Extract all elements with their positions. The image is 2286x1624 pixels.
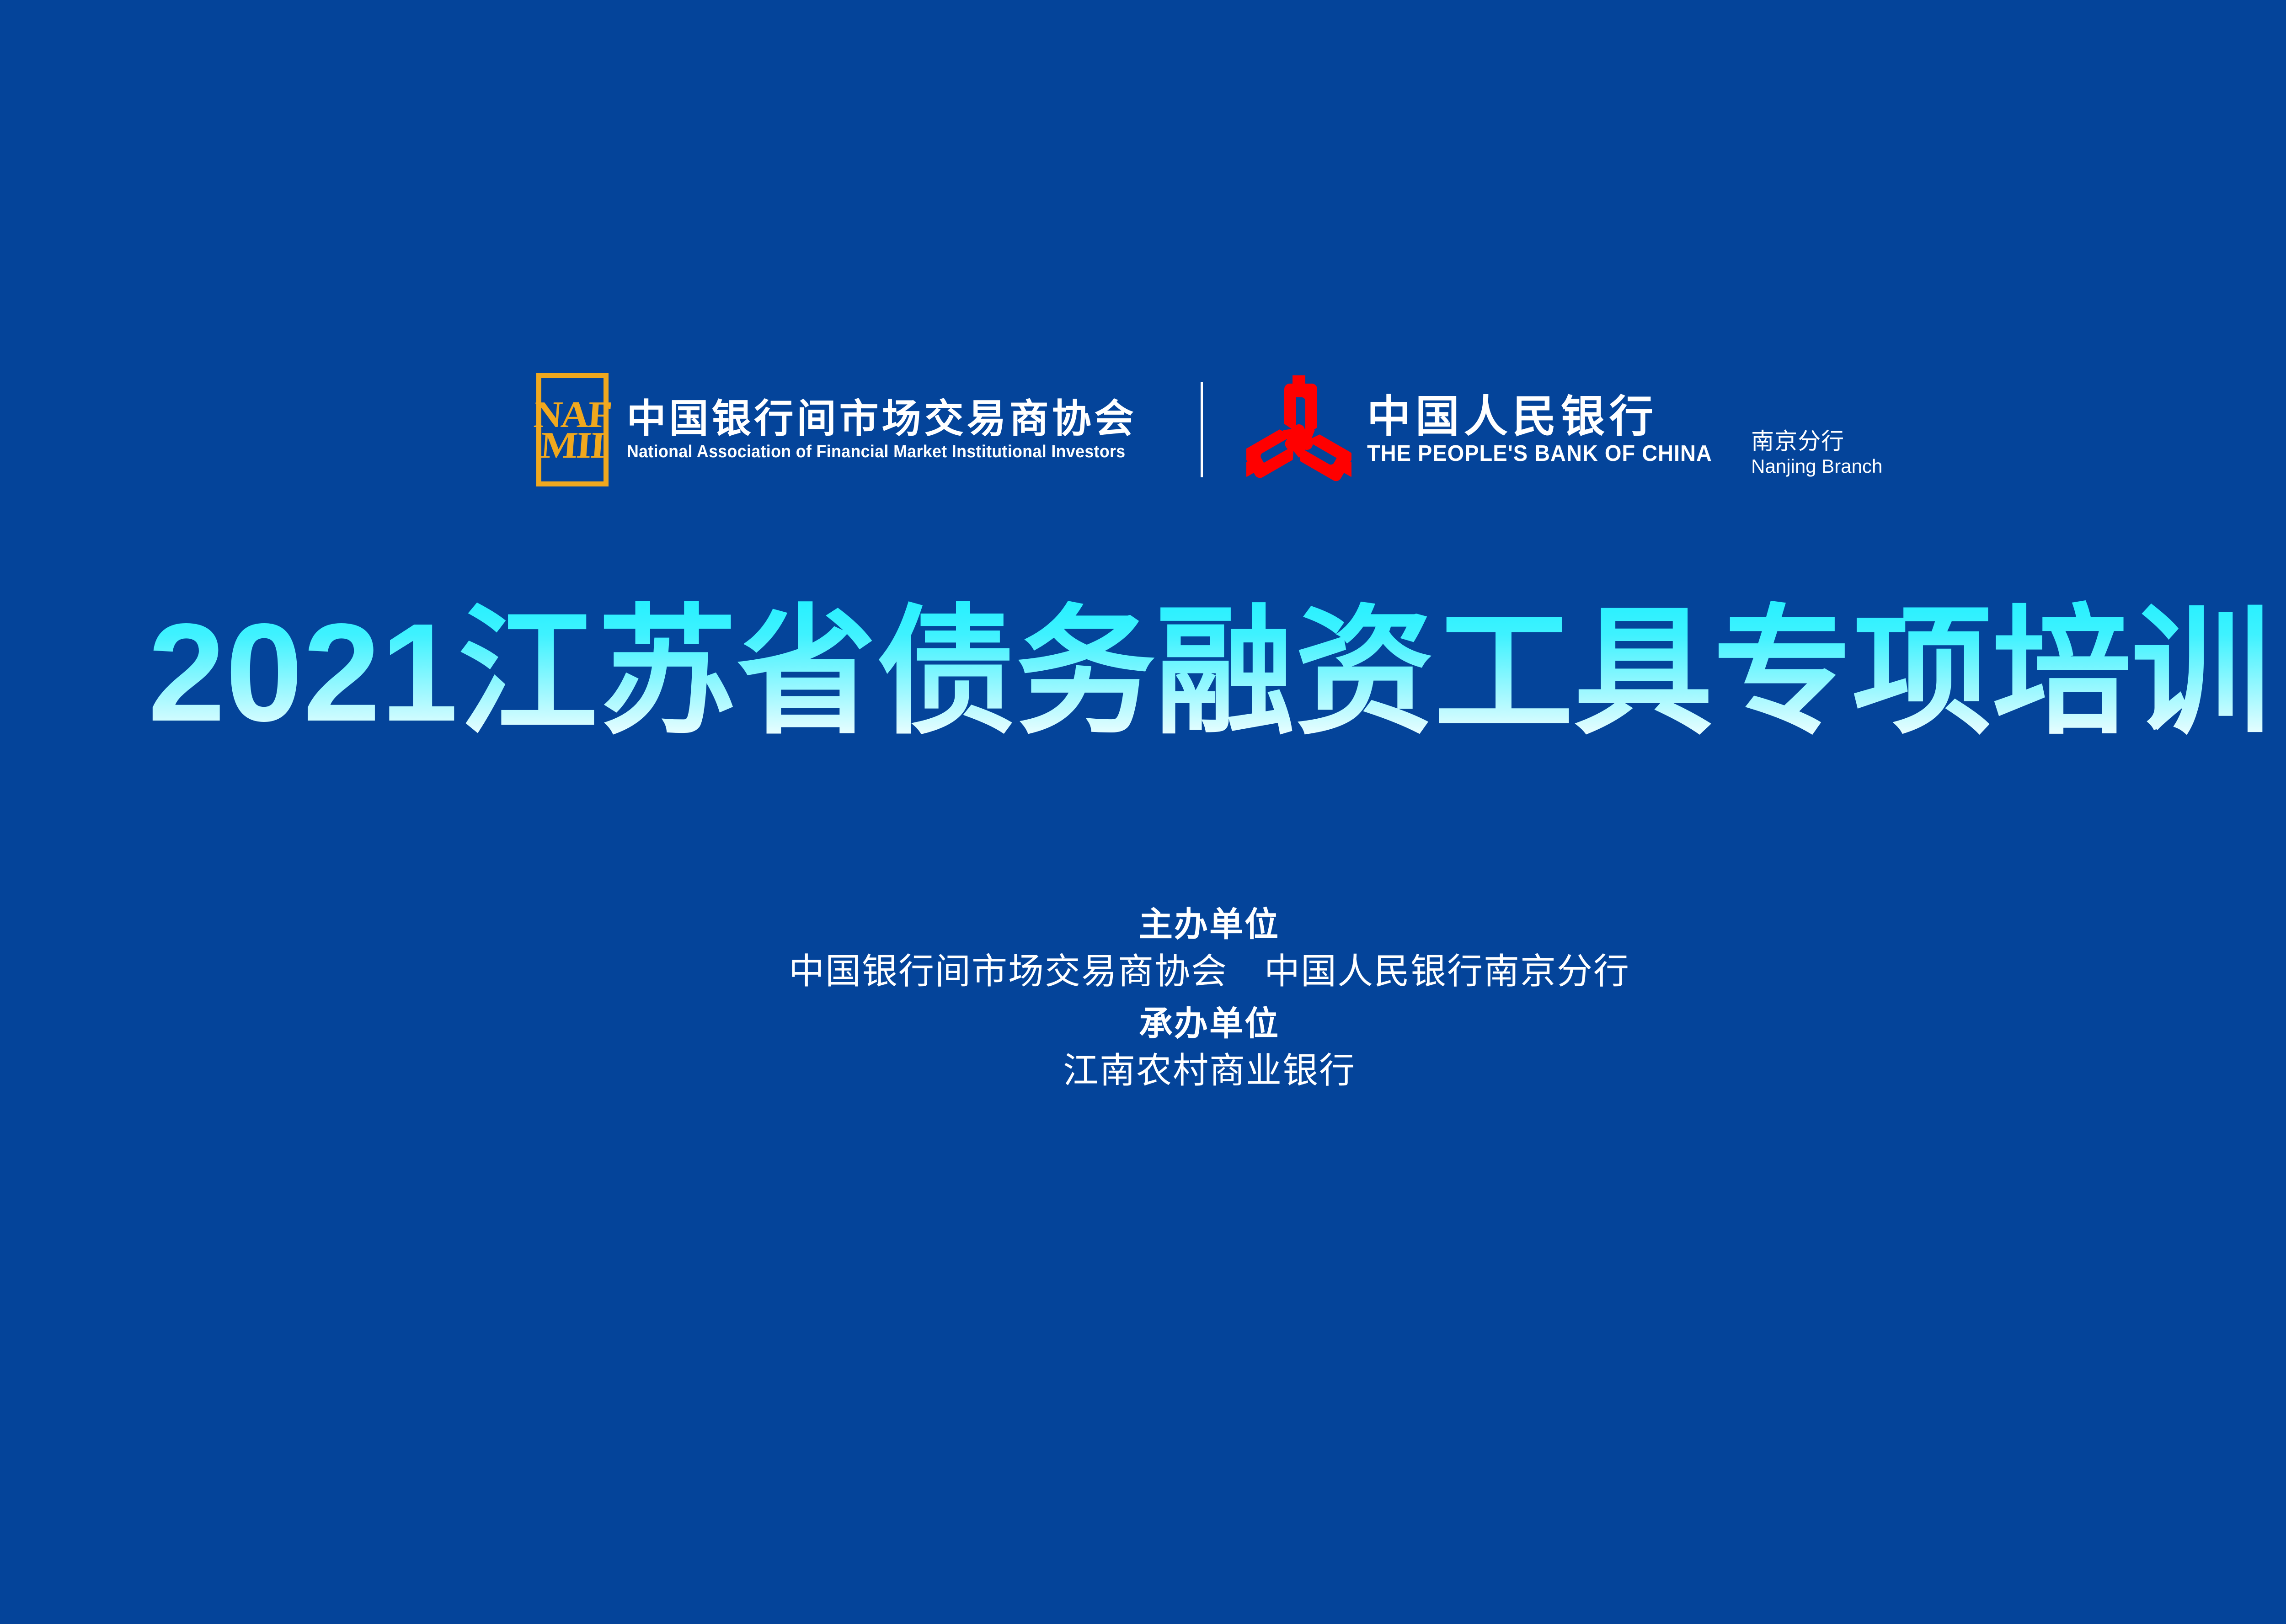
organizers-block: 主办单位 中国银行间市场交易商协会 中国人民银行南京分行 承办单位 江南农村商业… — [0, 903, 2286, 1094]
logo-divider — [1201, 382, 1203, 477]
organizer-names: 江南农村商业银行 — [0, 1047, 2286, 1094]
pboc-name-cn: 中国人民银行 — [1367, 395, 1726, 439]
nafmii-name-en: National Association of Financial Market… — [627, 443, 1126, 460]
logo-bar: NAF MII 中国银行间市场交易商协会 National Associatio… — [0, 361, 2286, 498]
pboc-branch-en: Nanjing Branch — [1751, 457, 1882, 476]
nafmii-name-cn: 中国银行间市场交易商协会 — [627, 399, 1157, 438]
pboc-branch-cn: 南京分行 — [1751, 430, 1882, 453]
nafmii-name-group: 中国银行间市场交易商协会 National Association of Fin… — [627, 399, 1157, 460]
pboc-logo-lockup: 中国人民银行 THE PEOPLE'S BANK OF CHINA 南京分行 N… — [1246, 373, 1883, 487]
pboc-logo-icon — [1246, 373, 1351, 487]
nafmii-mark-bottom-text: MII — [539, 430, 605, 460]
host-heading: 主办单位 — [0, 903, 2286, 946]
organizer-heading: 承办单位 — [0, 1002, 2286, 1045]
pboc-branch-group: 南京分行 Nanjing Branch — [1751, 373, 1882, 487]
organizers-spacer — [0, 995, 2286, 1002]
event-poster-slide: NAF MII 中国银行间市场交易商协会 National Associatio… — [0, 0, 2286, 1624]
nafmii-logo-icon: NAF MII — [536, 373, 609, 486]
pboc-name-group: 中国人民银行 THE PEOPLE'S BANK OF CHINA — [1367, 395, 1726, 465]
host-names: 中国银行间市场交易商协会 中国人民银行南京分行 — [0, 948, 2286, 994]
nafmii-logo-lockup: NAF MII 中国银行间市场交易商协会 National Associatio… — [536, 373, 1157, 486]
page-title: 2021江苏省债务融资工具专项培训 — [0, 594, 2286, 751]
pboc-name-en: THE PEOPLE'S BANK OF CHINA — [1367, 443, 1712, 465]
